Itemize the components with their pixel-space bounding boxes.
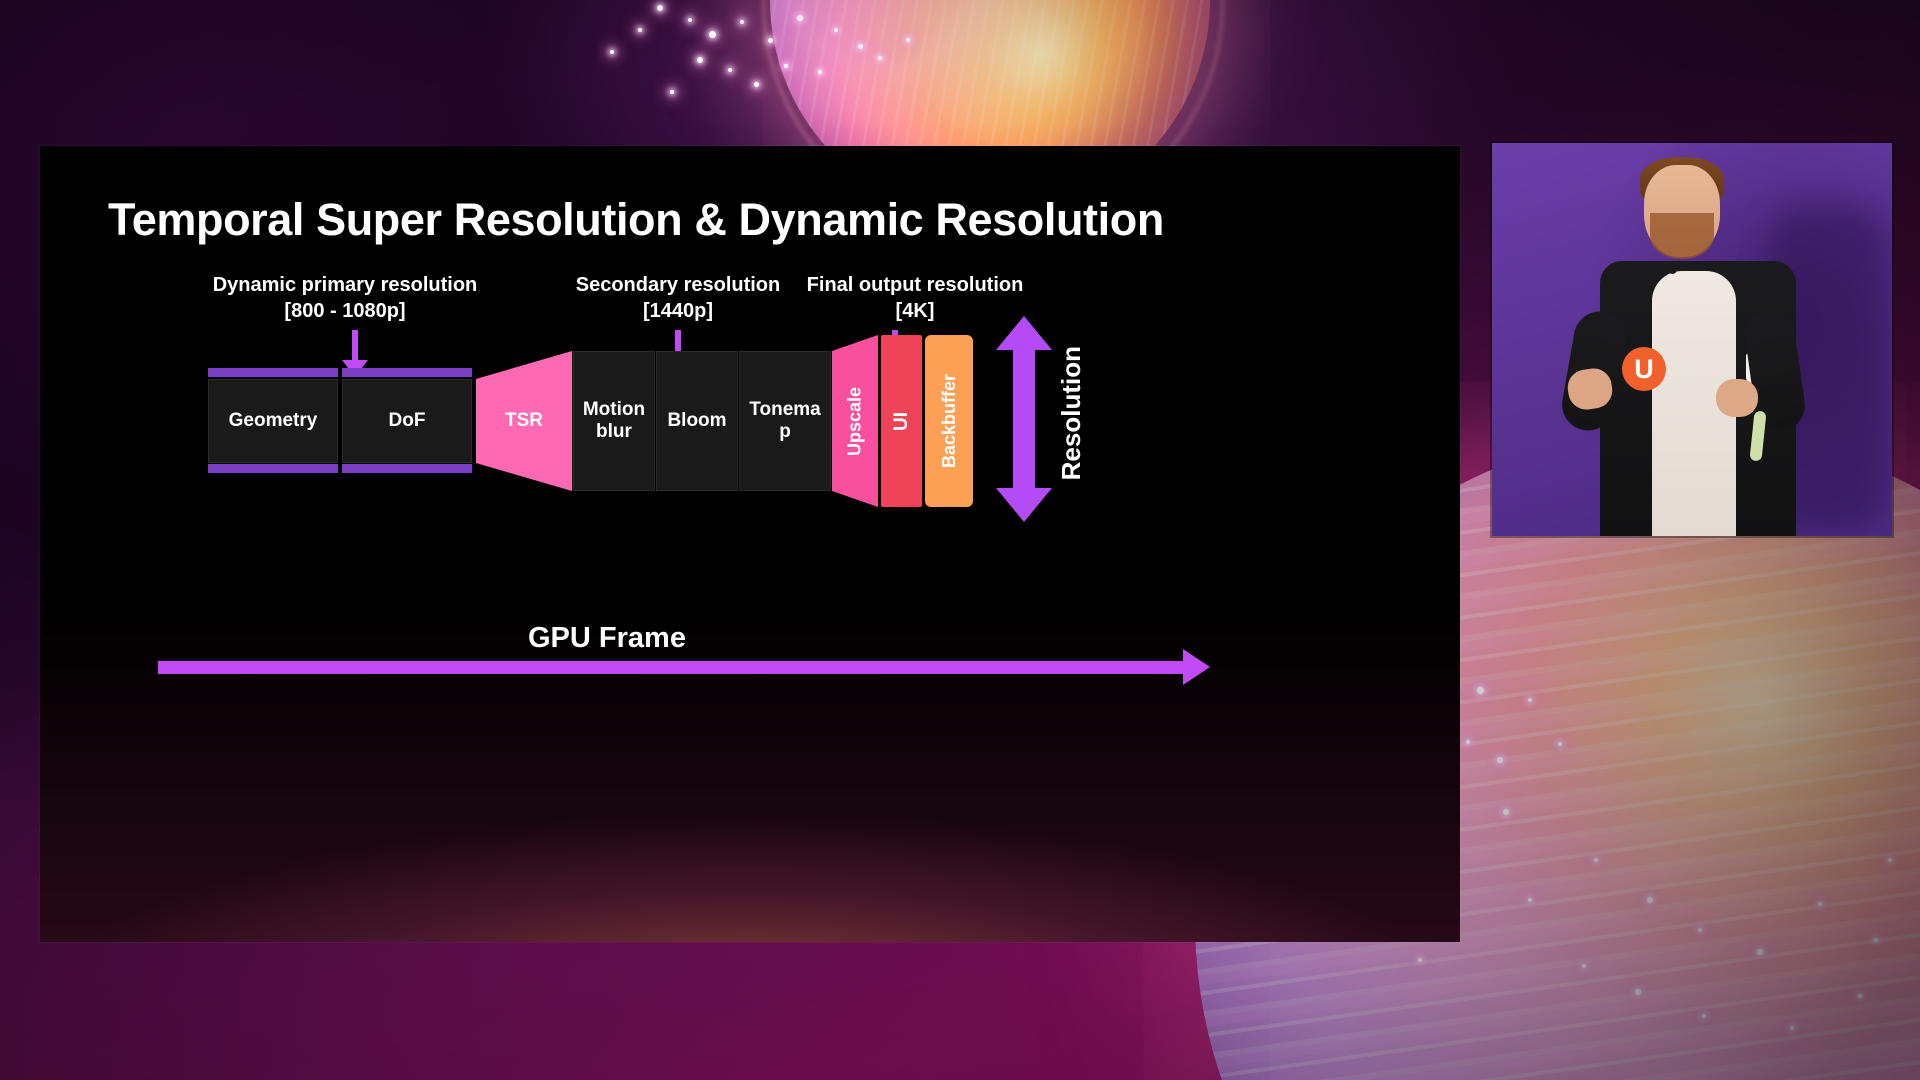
resolution-axis-arrow bbox=[996, 316, 1052, 522]
resolution-axis-label: Resolution bbox=[1056, 346, 1087, 480]
annotation-primary-line1: Dynamic primary resolution bbox=[180, 273, 510, 299]
pipeline-block-tonemap-label: Tonemap bbox=[749, 399, 821, 443]
presenter-video-inset: U EPIC bbox=[1492, 143, 1892, 536]
pipeline-block-motion-blur[interactable]: Motion blur bbox=[573, 351, 655, 491]
slide: Temporal Super Resolution & Dynamic Reso… bbox=[40, 146, 1460, 942]
pipeline-block-tsr-label: TSR bbox=[476, 351, 572, 491]
annotation-primary-line2: [800 - 1080p] bbox=[180, 299, 510, 325]
slide-title: Temporal Super Resolution & Dynamic Reso… bbox=[108, 194, 1164, 246]
pipeline-block-ui-label: UI bbox=[891, 412, 913, 431]
pipeline-block-bloom[interactable]: Bloom bbox=[656, 351, 738, 491]
pipeline-block-geometry-label: Geometry bbox=[229, 410, 318, 432]
resolution-bar-dof-top bbox=[342, 368, 472, 377]
gpu-frame-arrow-head bbox=[1183, 649, 1210, 685]
pipeline-block-backbuffer[interactable]: Backbuffer bbox=[925, 335, 973, 507]
presenter-lapel-mic-icon bbox=[1668, 265, 1677, 274]
pipeline-block-upscale-label: Upscale bbox=[832, 335, 878, 507]
pipeline-block-dof[interactable]: DoF bbox=[342, 379, 472, 463]
pipeline-block-tsr[interactable]: TSR bbox=[476, 351, 572, 491]
annotation-primary-resolution: Dynamic primary resolution [800 - 1080p] bbox=[180, 273, 510, 324]
pipeline-block-upscale[interactable]: Upscale bbox=[832, 335, 878, 507]
presenter-beard bbox=[1650, 213, 1714, 259]
resolution-bar-geometry-bottom bbox=[208, 464, 338, 473]
pipeline-block-bloom-label: Bloom bbox=[667, 410, 726, 432]
pipeline-block-tonemap[interactable]: Tonemap bbox=[739, 351, 831, 491]
gpu-frame-label: GPU Frame bbox=[528, 622, 686, 655]
pipeline-block-ui[interactable]: UI bbox=[881, 335, 922, 507]
presenter-right-hand bbox=[1716, 379, 1758, 417]
pipeline-block-geometry[interactable]: Geometry bbox=[208, 379, 338, 463]
presentation-stage: Temporal Super Resolution & Dynamic Reso… bbox=[0, 0, 1920, 1080]
resolution-bar-dof-bottom bbox=[342, 464, 472, 473]
resolution-bar-geometry-top bbox=[208, 368, 338, 377]
gpu-frame-arrow-shaft bbox=[158, 661, 1183, 674]
pipeline-block-backbuffer-label: Backbuffer bbox=[939, 374, 960, 468]
pipeline-block-motion-blur-label: Motion blur bbox=[574, 399, 654, 443]
pipeline-block-dof-label: DoF bbox=[389, 410, 426, 432]
annotation-final-line1: Final output resolution bbox=[770, 273, 1060, 299]
unreal-engine-logo-icon: U bbox=[1622, 347, 1666, 391]
